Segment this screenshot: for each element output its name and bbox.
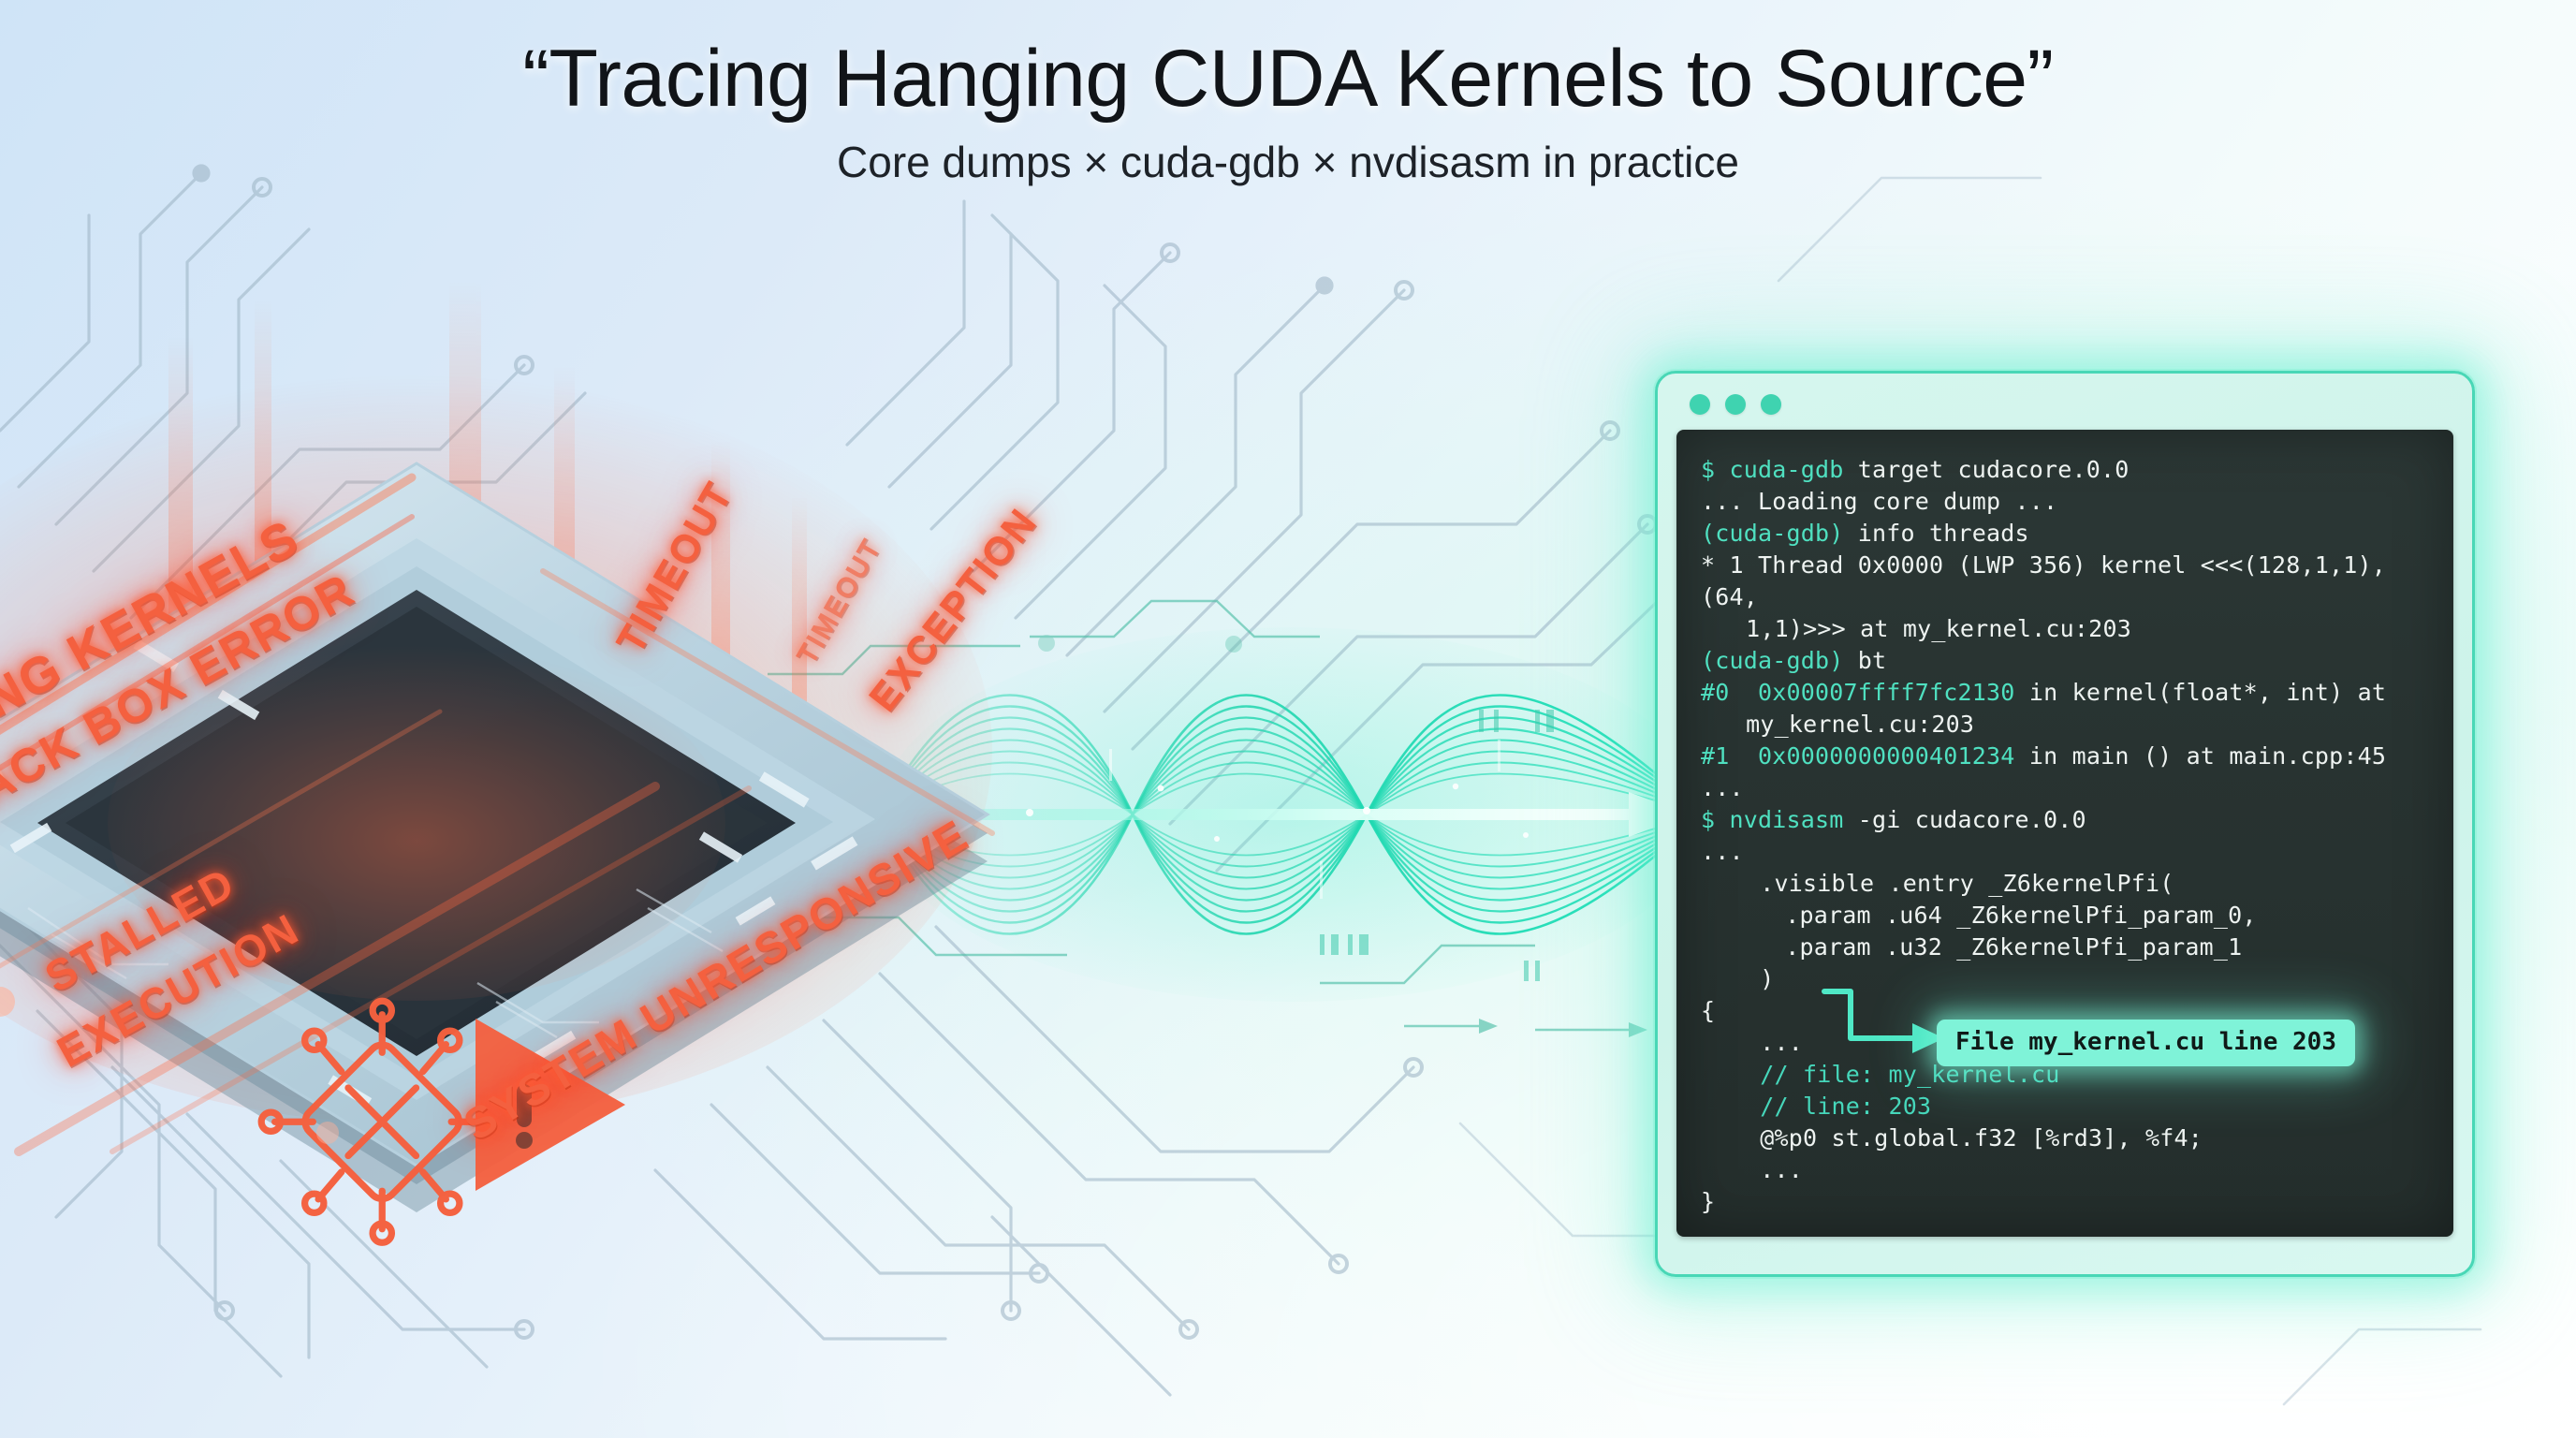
page-subtitle: Core dumps × cuda-gdb × nvdisasm in prac… bbox=[0, 137, 2576, 187]
window-maximize-dot-icon[interactable] bbox=[1761, 394, 1781, 415]
poster-header: “Tracing Hanging CUDA Kernels to Source”… bbox=[0, 34, 2576, 187]
status-badge: File my_kernel.cu line 203 bbox=[1937, 1020, 2355, 1066]
terminal-code: $ cuda-gdb target cudacore.0.0... Loadin… bbox=[1701, 454, 2433, 1218]
terminal-line: ... bbox=[1701, 772, 2433, 804]
terminal-line: ) bbox=[1701, 963, 2433, 995]
page-title: “Tracing Hanging CUDA Kernels to Source” bbox=[0, 34, 2576, 124]
window-close-dot-icon[interactable] bbox=[1690, 394, 1710, 415]
poster-canvas: “Tracing Hanging CUDA Kernels to Source”… bbox=[0, 0, 2576, 1438]
terminal-line: $ cuda-gdb target cudacore.0.0 bbox=[1701, 454, 2433, 486]
terminal-line: #0 0x00007ffff7fc2130 in kernel(float*, … bbox=[1701, 677, 2433, 709]
terminal-line: $ nvdisasm -gi cudacore.0.0 bbox=[1701, 804, 2433, 836]
terminal-line: .visible .entry _Z6kernelPfi( bbox=[1701, 868, 2433, 900]
terminal-line: (cuda-gdb) info threads bbox=[1701, 518, 2433, 550]
terminal-line: } bbox=[1701, 1186, 2433, 1218]
source-location-callout[interactable]: File my_kernel.cu line 203 bbox=[1937, 1020, 2355, 1066]
terminal-line: .param .u64 _Z6kernelPfi_param_0, bbox=[1701, 900, 2433, 932]
terminal-titlebar bbox=[1667, 383, 2463, 426]
terminal-window[interactable]: $ cuda-gdb target cudacore.0.0... Loadin… bbox=[1655, 371, 2475, 1277]
terminal-line: * 1 Thread 0x0000 (LWP 356) kernel <<<(1… bbox=[1701, 550, 2433, 613]
window-minimize-dot-icon[interactable] bbox=[1725, 394, 1746, 415]
terminal-line: ... bbox=[1701, 1154, 2433, 1186]
terminal-line: 1,1)>>> at my_kernel.cu:203 bbox=[1701, 613, 2433, 645]
terminal-line: .param .u32 _Z6kernelPfi_param_1 bbox=[1701, 932, 2433, 963]
terminal-output[interactable]: $ cuda-gdb target cudacore.0.0... Loadin… bbox=[1676, 430, 2453, 1237]
terminal-line: ... bbox=[1701, 836, 2433, 868]
terminal-line: // line: 203 bbox=[1701, 1091, 2433, 1123]
terminal-line: my_kernel.cu:203 bbox=[1701, 709, 2433, 741]
gpu-chip-illustration bbox=[0, 309, 1086, 1152]
terminal-line: #1 0x0000000000401234 in main () at main… bbox=[1701, 741, 2433, 772]
terminal-line: @%p0 st.global.f32 [%rd3], %f4; bbox=[1701, 1123, 2433, 1154]
elbow-arrow-icon bbox=[1819, 984, 1950, 1063]
terminal-line: (cuda-gdb) bt bbox=[1701, 645, 2433, 677]
terminal-line: ... Loading core dump ... bbox=[1701, 486, 2433, 518]
